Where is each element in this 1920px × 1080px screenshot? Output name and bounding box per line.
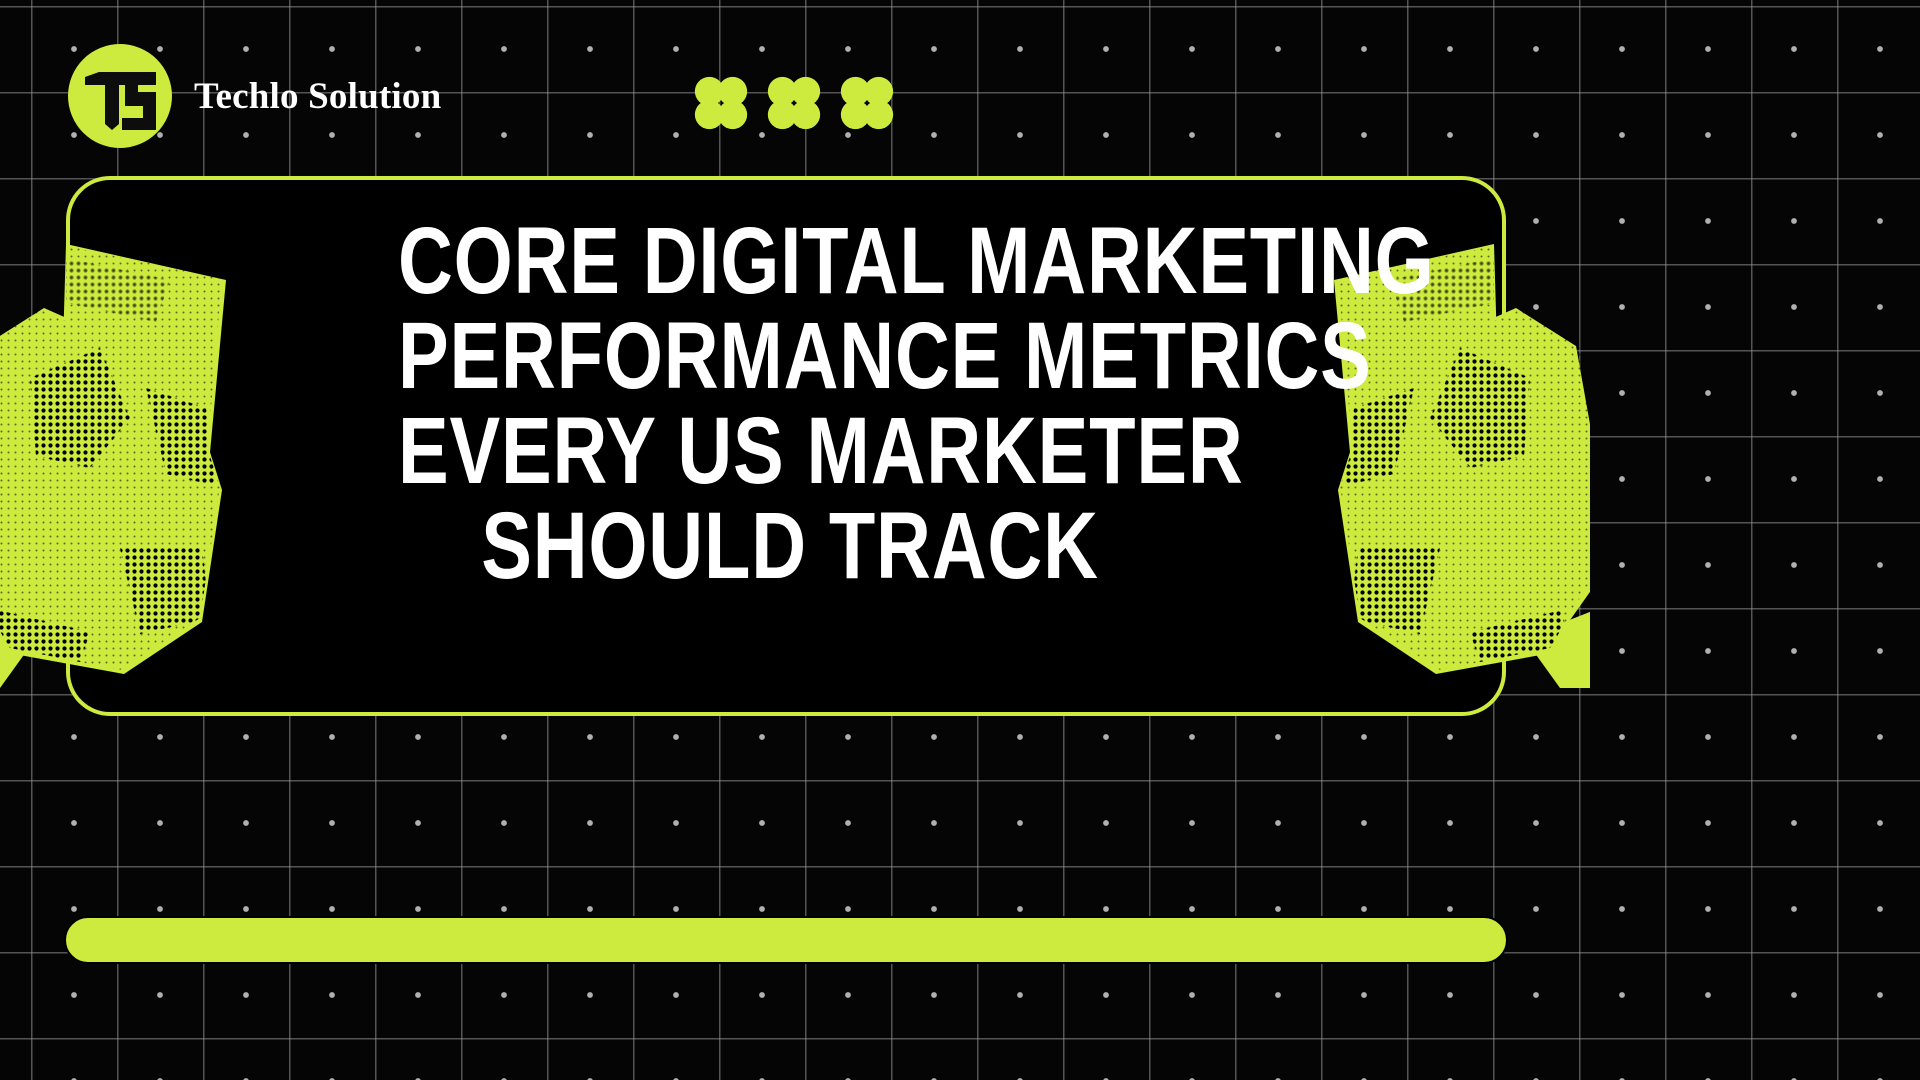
title-line-4: SHOULD TRACK [398,499,1182,594]
ts-monogram-logo [68,44,172,148]
title-line-2: PERFORMANCE METRICS [398,309,1182,404]
poster-canvas: Techlo Solution [0,0,1920,1080]
clover-icon [763,72,825,134]
header: Techlo Solution [0,0,1920,190]
accent-bottom-bar [64,916,1508,964]
clover-icon [690,72,752,134]
page-title: CORE DIGITAL MARKETING PERFORMANCE METRI… [300,214,1280,594]
brand-lockup[interactable]: Techlo Solution [68,44,441,148]
title-line-3: EVERY US MARKETER [398,404,1182,499]
brand-name: Techlo Solution [194,75,441,118]
clover-icon [836,72,898,134]
title-line-1: CORE DIGITAL MARKETING [398,214,1182,309]
clover-decoration-group [690,72,898,134]
